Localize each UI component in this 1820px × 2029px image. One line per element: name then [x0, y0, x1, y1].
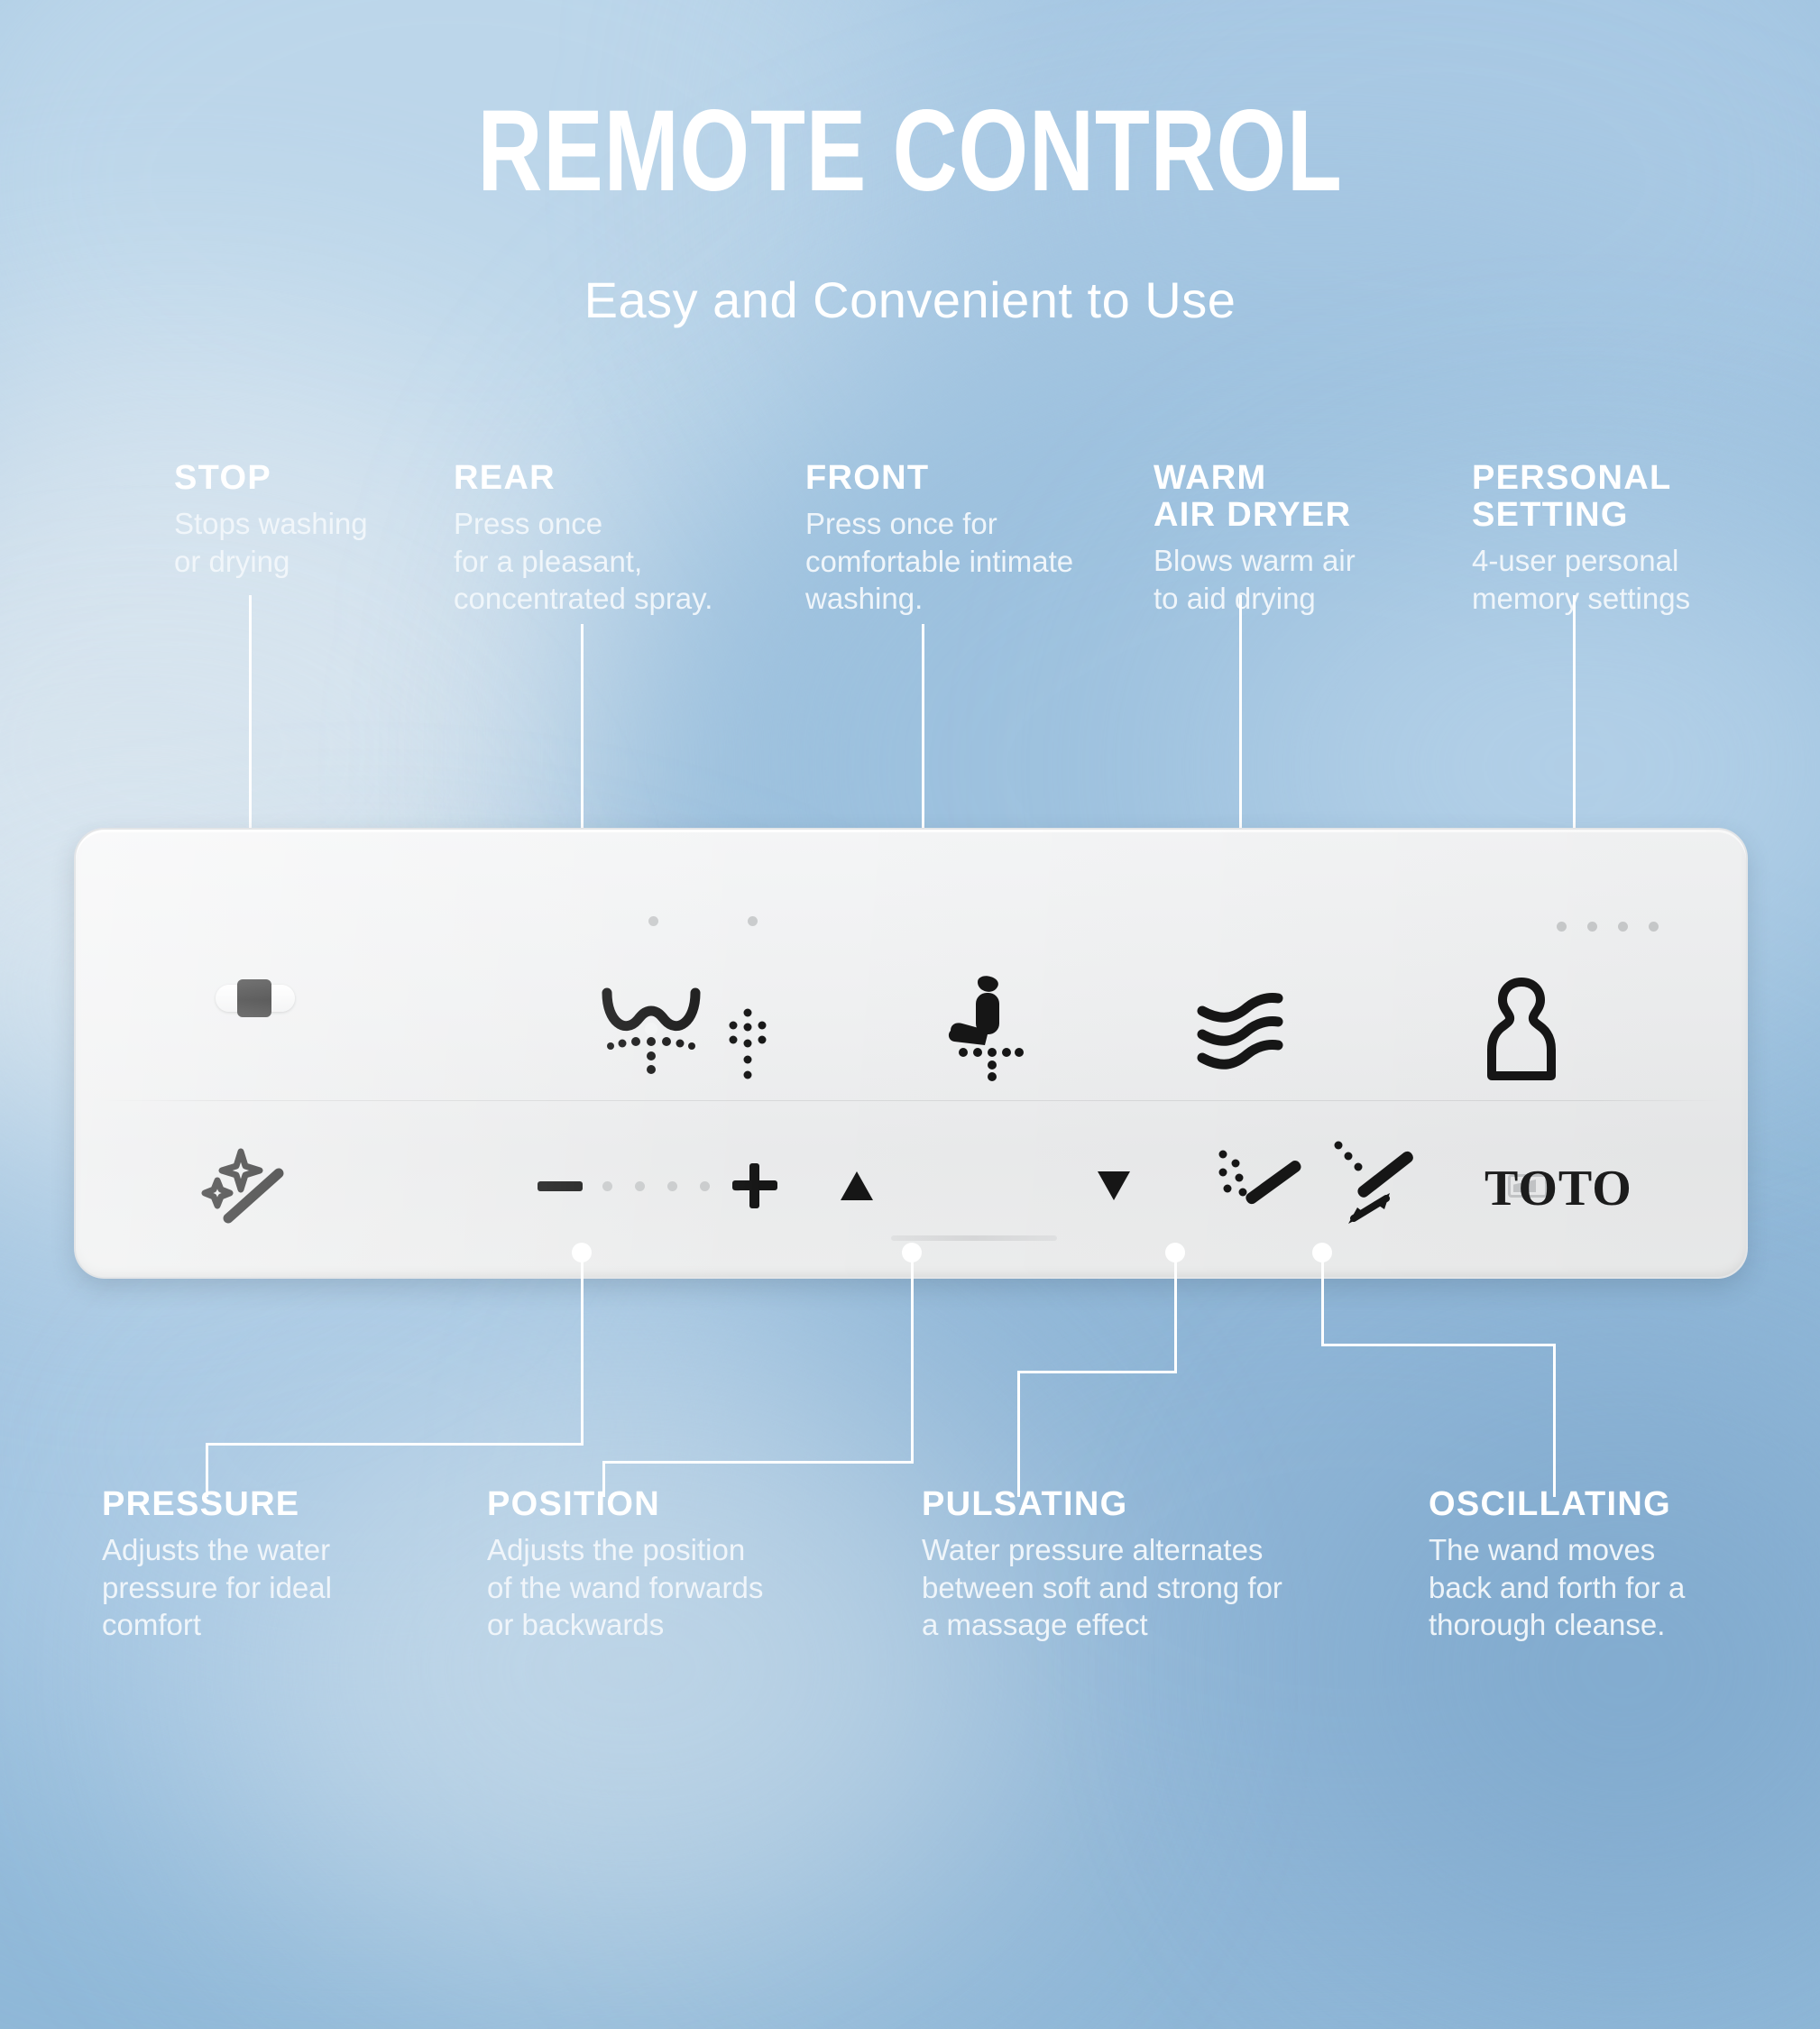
slider-bar-icon[interactable]: [891, 1235, 1057, 1241]
oscillating-wand-icon[interactable]: [1331, 1138, 1429, 1232]
plus-icon[interactable]: [731, 1161, 779, 1210]
leader-line-oscillating-a: [1321, 1252, 1324, 1344]
rear-spray-icon[interactable]: [597, 981, 705, 1080]
callout-oscillating: OSCILLATING The wand moves back and fort…: [1429, 1486, 1717, 1644]
sparkle-wand-icon[interactable]: [200, 1147, 290, 1225]
callout-desc: 4-user personal memory settings: [1472, 542, 1733, 617]
rear-soft-indicator-dots: [748, 916, 758, 926]
leader-line-position-b: [602, 1461, 914, 1464]
leader-line-pressure-b: [206, 1443, 584, 1446]
callout-warm-air-dryer: WARM AIR DRYER Blows warm air to aid dry…: [1154, 460, 1388, 617]
remote-control-panel: TOTO: [74, 828, 1748, 1279]
leader-line-pulsating-b: [1017, 1371, 1177, 1373]
callout-title: OSCILLATING: [1429, 1486, 1717, 1523]
rear-indicator-dots: [648, 916, 658, 926]
callout-desc: Adjusts the water pressure for ideal com…: [102, 1531, 372, 1644]
callout-desc: Adjusts the position of the wand forward…: [487, 1531, 785, 1644]
front-spray-person-icon[interactable]: [937, 974, 1054, 1082]
callout-title: REAR: [454, 460, 724, 497]
stop-switch-icon[interactable]: [216, 985, 295, 1012]
callout-title: FRONT: [805, 460, 1103, 497]
triangle-up-icon[interactable]: [838, 1169, 876, 1203]
callout-title: PULSATING: [922, 1486, 1282, 1523]
callout-title: STOP: [174, 460, 381, 497]
leader-line-position-a: [911, 1252, 914, 1461]
level-dots-icon[interactable]: [602, 1181, 742, 1191]
leader-line-pressure-a: [581, 1252, 584, 1443]
personal-setting-indicator-dots: [1557, 922, 1659, 932]
leader-line-pulsating-c: [1017, 1371, 1020, 1497]
pulsating-wand-icon[interactable]: [1214, 1145, 1306, 1228]
callout-desc: The wand moves back and forth for a thor…: [1429, 1531, 1717, 1644]
callout-stop: STOP Stops washing or drying: [174, 460, 381, 580]
callout-pulsating: PULSATING Water pressure alternates betw…: [922, 1486, 1282, 1644]
callout-title: PRESSURE: [102, 1486, 372, 1523]
callout-desc: Blows warm air to aid drying: [1154, 542, 1388, 617]
callout-title: POSITION: [487, 1486, 785, 1523]
leader-line-pulsating-a: [1174, 1252, 1177, 1371]
callout-front: FRONT Press once for comfortable intimat…: [805, 460, 1103, 618]
callout-desc: Stops washing or drying: [174, 505, 381, 580]
callout-desc: Press once for a pleasant, concentrated …: [454, 505, 724, 618]
callout-personal-setting: PERSONAL SETTING 4-user personal memory …: [1472, 460, 1733, 617]
air-waves-icon[interactable]: [1194, 990, 1293, 1071]
callout-pressure: PRESSURE Adjusts the water pressure for …: [102, 1486, 372, 1644]
callout-position: POSITION Adjusts the position of the wan…: [487, 1486, 785, 1644]
page-title: REMOTE CONTROL: [200, 94, 1620, 209]
triangle-down-icon[interactable]: [1095, 1169, 1133, 1203]
minus-icon[interactable]: [536, 1171, 584, 1201]
callout-rear: REAR Press once for a pleasant, concentr…: [454, 460, 724, 618]
panel-divider: [99, 1100, 1723, 1101]
page-subtitle: Easy and Convenient to Use: [0, 271, 1820, 329]
soft-spray-icon[interactable]: [721, 1006, 775, 1082]
person-outline-icon[interactable]: [1481, 974, 1562, 1084]
callout-desc: Press once for comfortable intimate wash…: [805, 505, 1103, 618]
leader-line-oscillating-c: [1553, 1344, 1556, 1497]
leader-line-oscillating-b: [1321, 1344, 1556, 1346]
callout-title: PERSONAL SETTING: [1472, 460, 1733, 534]
brand-logo: TOTO: [1484, 1160, 1632, 1217]
callout-title: WARM AIR DRYER: [1154, 460, 1388, 534]
callout-desc: Water pressure alternates between soft a…: [922, 1531, 1282, 1644]
